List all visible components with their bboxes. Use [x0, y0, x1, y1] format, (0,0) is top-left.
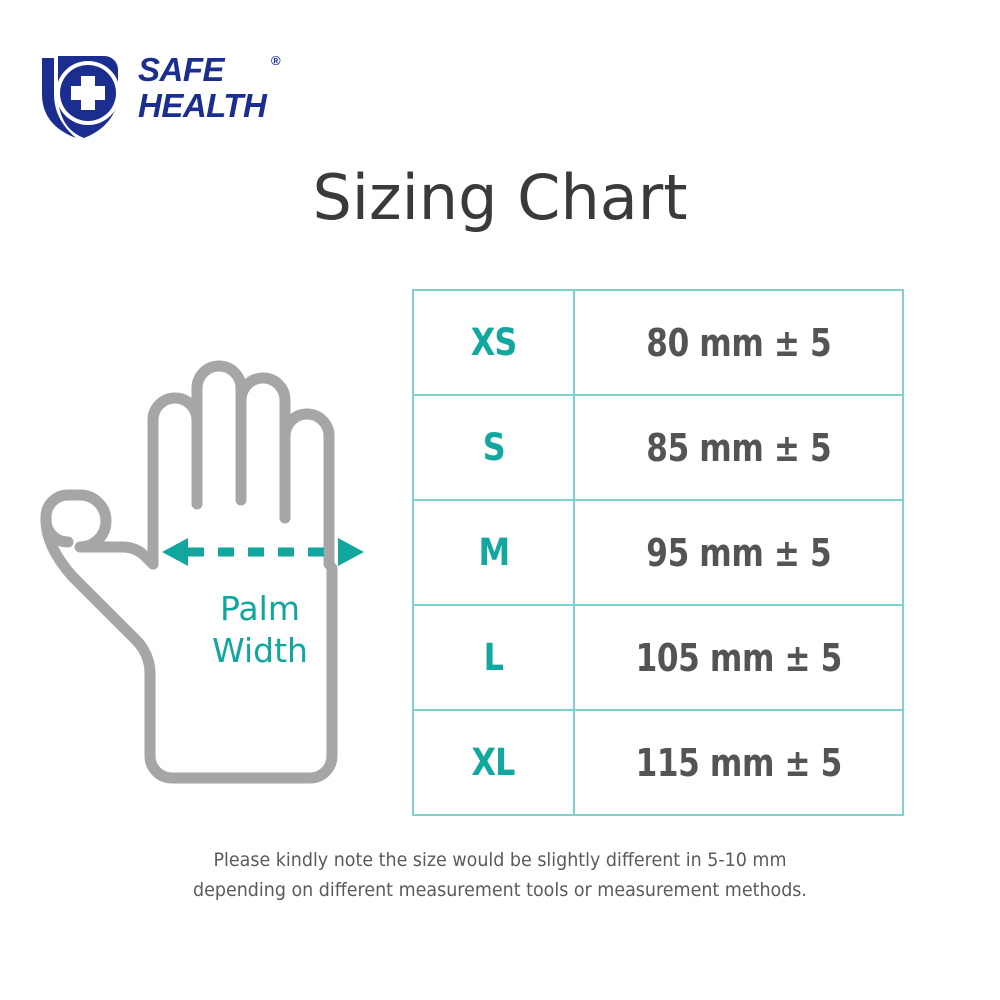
brand-name-line2: HEALTH — [138, 88, 338, 124]
table-cell-measurement: 80 mm ± 5 — [574, 290, 903, 395]
measurement-label: 95 mm ± 5 — [646, 532, 831, 574]
size-label: XS — [471, 323, 517, 363]
table-cell-measurement: 95 mm ± 5 — [574, 500, 903, 605]
sizing-chart-page: SAFE HEALTH ® Sizing Chart — [0, 0, 1000, 1000]
table-row: XL 115 mm ± 5 — [413, 710, 903, 815]
page-title: Sizing Chart — [0, 160, 1000, 236]
hand-palm-width-diagram — [28, 268, 388, 808]
footer-note-line2: depending on different measurement tools… — [150, 875, 849, 905]
table-cell-size: M — [413, 500, 574, 605]
table-cell-size: S — [413, 395, 574, 500]
brand-name-line1: SAFE — [138, 52, 338, 88]
registered-trademark-icon: ® — [271, 54, 281, 67]
shield-medical-cross-icon — [38, 48, 138, 140]
palm-width-label-line2: Width — [150, 630, 370, 672]
table-cell-measurement: 105 mm ± 5 — [574, 605, 903, 710]
measurement-label: 85 mm ± 5 — [646, 427, 831, 469]
sizing-table: XS 80 mm ± 5 S 85 mm ± 5 M 95 mm — [412, 289, 904, 816]
size-label: XL — [472, 743, 515, 783]
table-cell-size: XS — [413, 290, 574, 395]
measurement-label: 115 mm ± 5 — [635, 742, 841, 784]
table-cell-size: XL — [413, 710, 574, 815]
footer-note-line1: Please kindly note the size would be sli… — [150, 845, 849, 875]
measurement-label: 105 mm ± 5 — [635, 637, 841, 679]
table-row: XS 80 mm ± 5 — [413, 290, 903, 395]
table-row: M 95 mm ± 5 — [413, 500, 903, 605]
footer-note: Please kindly note the size would be sli… — [120, 845, 880, 905]
measurement-label: 80 mm ± 5 — [646, 322, 831, 364]
palm-width-label: Palm Width — [150, 588, 370, 672]
palm-width-label-line1: Palm — [150, 588, 370, 630]
table-cell-size: L — [413, 605, 574, 710]
table-row: S 85 mm ± 5 — [413, 395, 903, 500]
size-label: M — [478, 533, 509, 573]
table-cell-measurement: 85 mm ± 5 — [574, 395, 903, 500]
brand-wordmark: SAFE HEALTH ® — [138, 52, 338, 136]
hand-outline-icon — [46, 366, 332, 778]
sizing-table-body: XS 80 mm ± 5 S 85 mm ± 5 M 95 mm — [413, 290, 903, 815]
brand-logo: SAFE HEALTH ® — [38, 48, 338, 140]
table-cell-measurement: 115 mm ± 5 — [574, 710, 903, 815]
size-label: S — [482, 428, 504, 468]
size-label: L — [484, 638, 503, 678]
table-row: L 105 mm ± 5 — [413, 605, 903, 710]
